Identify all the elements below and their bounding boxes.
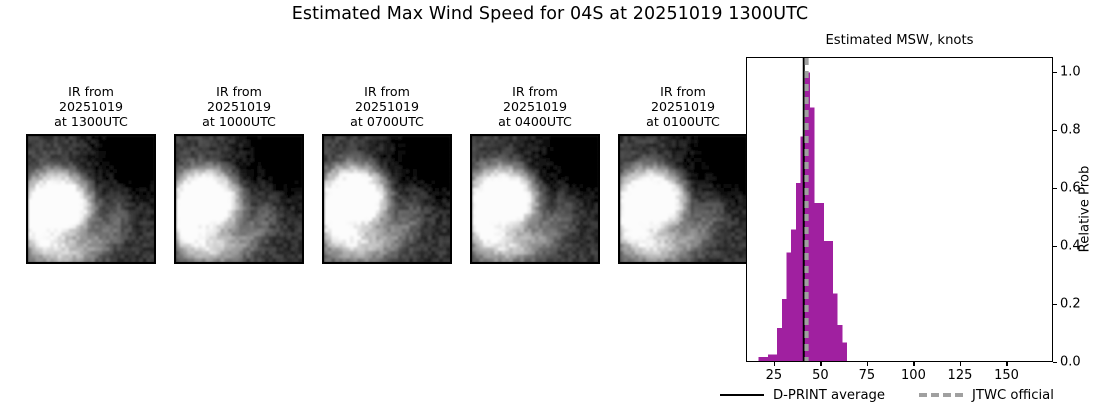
dashed-line-icon <box>919 393 963 397</box>
ir-caption-line: 20251019 <box>26 99 156 114</box>
x-axis-tick-label: 125 <box>948 368 973 383</box>
x-axis-tick <box>820 362 821 366</box>
y-axis-tick <box>1053 188 1057 189</box>
y-axis-tick <box>1053 304 1057 305</box>
y-axis-tick <box>1053 246 1057 247</box>
legend-item-dprint: D-PRINT average <box>720 388 885 403</box>
ir-caption-line: 20251019 <box>174 99 304 114</box>
ir-satellite-image <box>174 134 304 264</box>
ir-caption-line: at 1300UTC <box>26 114 156 129</box>
x-axis-tick-label: 100 <box>901 368 926 383</box>
y-axis-tick-label: 0.8 <box>1060 122 1081 137</box>
ir-caption-line: 20251019 <box>322 99 452 114</box>
ir-satellite-image <box>618 134 748 264</box>
ir-caption-line: IR from <box>174 84 304 99</box>
ir-caption-line: at 1000UTC <box>174 114 304 129</box>
ir-panel-0700utc: IR from20251019at 0700UTC <box>322 84 452 264</box>
x-axis-tick-label: 75 <box>859 368 876 383</box>
x-axis-tick-label: 25 <box>766 368 783 383</box>
y-axis-tick <box>1053 72 1057 73</box>
ir-panel-0400utc: IR from20251019at 0400UTC <box>470 84 600 264</box>
page-title: Estimated Max Wind Speed for 04S at 2025… <box>0 4 1100 24</box>
chart-title: Estimated MSW, knots <box>746 33 1053 48</box>
x-axis-tick <box>774 362 775 366</box>
y-axis-tick <box>1053 362 1057 363</box>
ir-satellite-image <box>470 134 600 264</box>
ir-panel-caption: IR from20251019at 0100UTC <box>618 84 748 130</box>
ir-caption-line: at 0700UTC <box>322 114 452 129</box>
plot-frame <box>746 57 1053 362</box>
legend-label-jtwc: JTWC official <box>972 388 1054 403</box>
ir-satellite-image <box>322 134 452 264</box>
ir-panel-1300utc: IR from20251019at 1300UTC <box>26 84 156 264</box>
legend-label-dprint: D-PRINT average <box>773 388 885 403</box>
y-axis-tick-label: 1.0 <box>1060 64 1081 79</box>
x-axis-tick <box>867 362 868 366</box>
x-axis-tick <box>913 362 914 366</box>
ir-caption-line: IR from <box>26 84 156 99</box>
x-axis-tick-label: 150 <box>994 368 1019 383</box>
ir-caption-line: IR from <box>618 84 748 99</box>
ir-satellite-image <box>26 134 156 264</box>
legend-item-jtwc: JTWC official <box>919 388 1054 403</box>
ir-caption-line: 20251019 <box>470 99 600 114</box>
ir-panel-caption: IR from20251019at 0400UTC <box>470 84 600 130</box>
solid-line-icon <box>720 394 764 396</box>
x-axis-tick <box>1006 362 1007 366</box>
chart-legend: D-PRINT average JTWC official <box>720 384 1090 406</box>
y-axis-tick-label: 0.6 <box>1060 180 1081 195</box>
y-axis-tick-label: 0.2 <box>1060 296 1081 311</box>
ir-caption-line: at 0100UTC <box>618 114 748 129</box>
x-axis-tick-label: 50 <box>812 368 829 383</box>
ir-panel-caption: IR from20251019at 1000UTC <box>174 84 304 130</box>
x-axis-tick <box>960 362 961 366</box>
ir-panel-0100utc: IR from20251019at 0100UTC <box>618 84 748 264</box>
ir-panel-caption: IR from20251019at 0700UTC <box>322 84 452 130</box>
ir-caption-line: 20251019 <box>618 99 748 114</box>
ir-panel-strip: IR from20251019at 1300UTCIR from20251019… <box>26 84 738 279</box>
ir-caption-line: IR from <box>322 84 452 99</box>
y-axis-tick-label: 0.0 <box>1060 355 1081 370</box>
histogram-bars <box>747 58 1053 362</box>
msw-histogram-plot: Estimated MSW, knots Relative Prob 25507… <box>746 57 1053 362</box>
ir-panel-1000utc: IR from20251019at 1000UTC <box>174 84 304 264</box>
y-axis-tick <box>1053 130 1057 131</box>
ir-caption-line: IR from <box>470 84 600 99</box>
ir-caption-line: at 0400UTC <box>470 114 600 129</box>
y-axis-tick-label: 0.4 <box>1060 238 1081 253</box>
ir-panel-caption: IR from20251019at 1300UTC <box>26 84 156 130</box>
